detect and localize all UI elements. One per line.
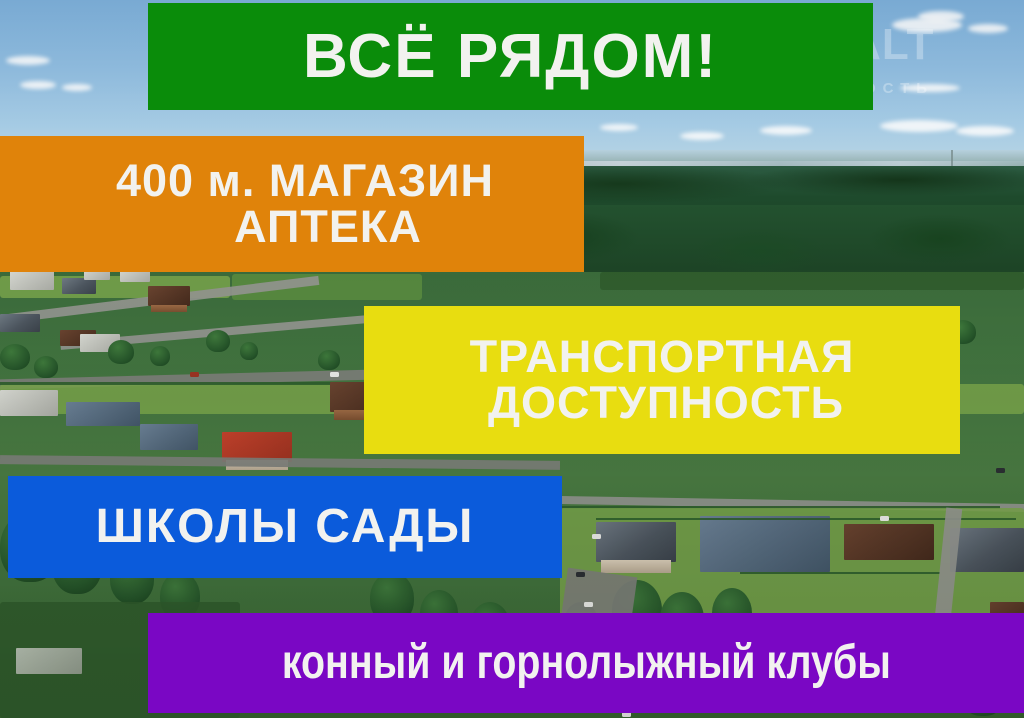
banner-yellow-line2: ДОСТУПНОСТЬ: [470, 380, 855, 426]
cloud: [968, 24, 1008, 33]
banner-blue-text: ШКОЛЫ САДЫ: [96, 503, 475, 552]
cloud: [6, 56, 50, 65]
cloud: [20, 81, 56, 89]
car: [330, 372, 339, 377]
banner-schools-kindergartens: ШКОЛЫ САДЫ: [8, 476, 562, 578]
cloud: [918, 11, 964, 22]
car: [584, 602, 593, 607]
cloud: [900, 84, 960, 92]
banner-green-text: ВСЁ РЯДОМ!: [303, 25, 718, 88]
advertisement-poster: ONREALT НЕДВИЖИМОСТЬ ВСЁ РЯДОМ! 400 м. М…: [0, 0, 1024, 718]
banner-yellow-line1: ТРАНСПОРТНАЯ: [470, 334, 855, 380]
banner-purple-text: конный и горнолыжный клубы: [282, 639, 891, 688]
cloud: [680, 132, 724, 140]
banner-orange-text-block: 400 м. МАГАЗИН АПТЕКА: [116, 158, 494, 250]
banner-shop-pharmacy: 400 м. МАГАЗИН АПТЕКА: [0, 136, 584, 272]
banner-everything-nearby: ВСЁ РЯДОМ!: [148, 3, 873, 110]
car: [996, 468, 1005, 473]
banner-yellow-text-block: ТРАНСПОРТНАЯ ДОСТУПНОСТЬ: [470, 334, 855, 426]
cloud: [62, 84, 92, 91]
cloud: [880, 120, 958, 132]
cloud: [600, 124, 638, 131]
car: [880, 516, 889, 521]
car: [190, 372, 199, 377]
banner-transport-accessibility: ТРАНСПОРТНАЯ ДОСТУПНОСТЬ: [364, 306, 960, 454]
cloud: [956, 126, 1014, 136]
car: [592, 534, 601, 539]
banner-equestrian-ski-clubs: конный и горнолыжный клубы: [148, 613, 1024, 713]
car: [576, 572, 585, 577]
banner-orange-line2: АПТЕКА: [116, 204, 494, 250]
cloud: [760, 126, 812, 135]
banner-orange-line1: 400 м. МАГАЗИН: [116, 155, 494, 206]
